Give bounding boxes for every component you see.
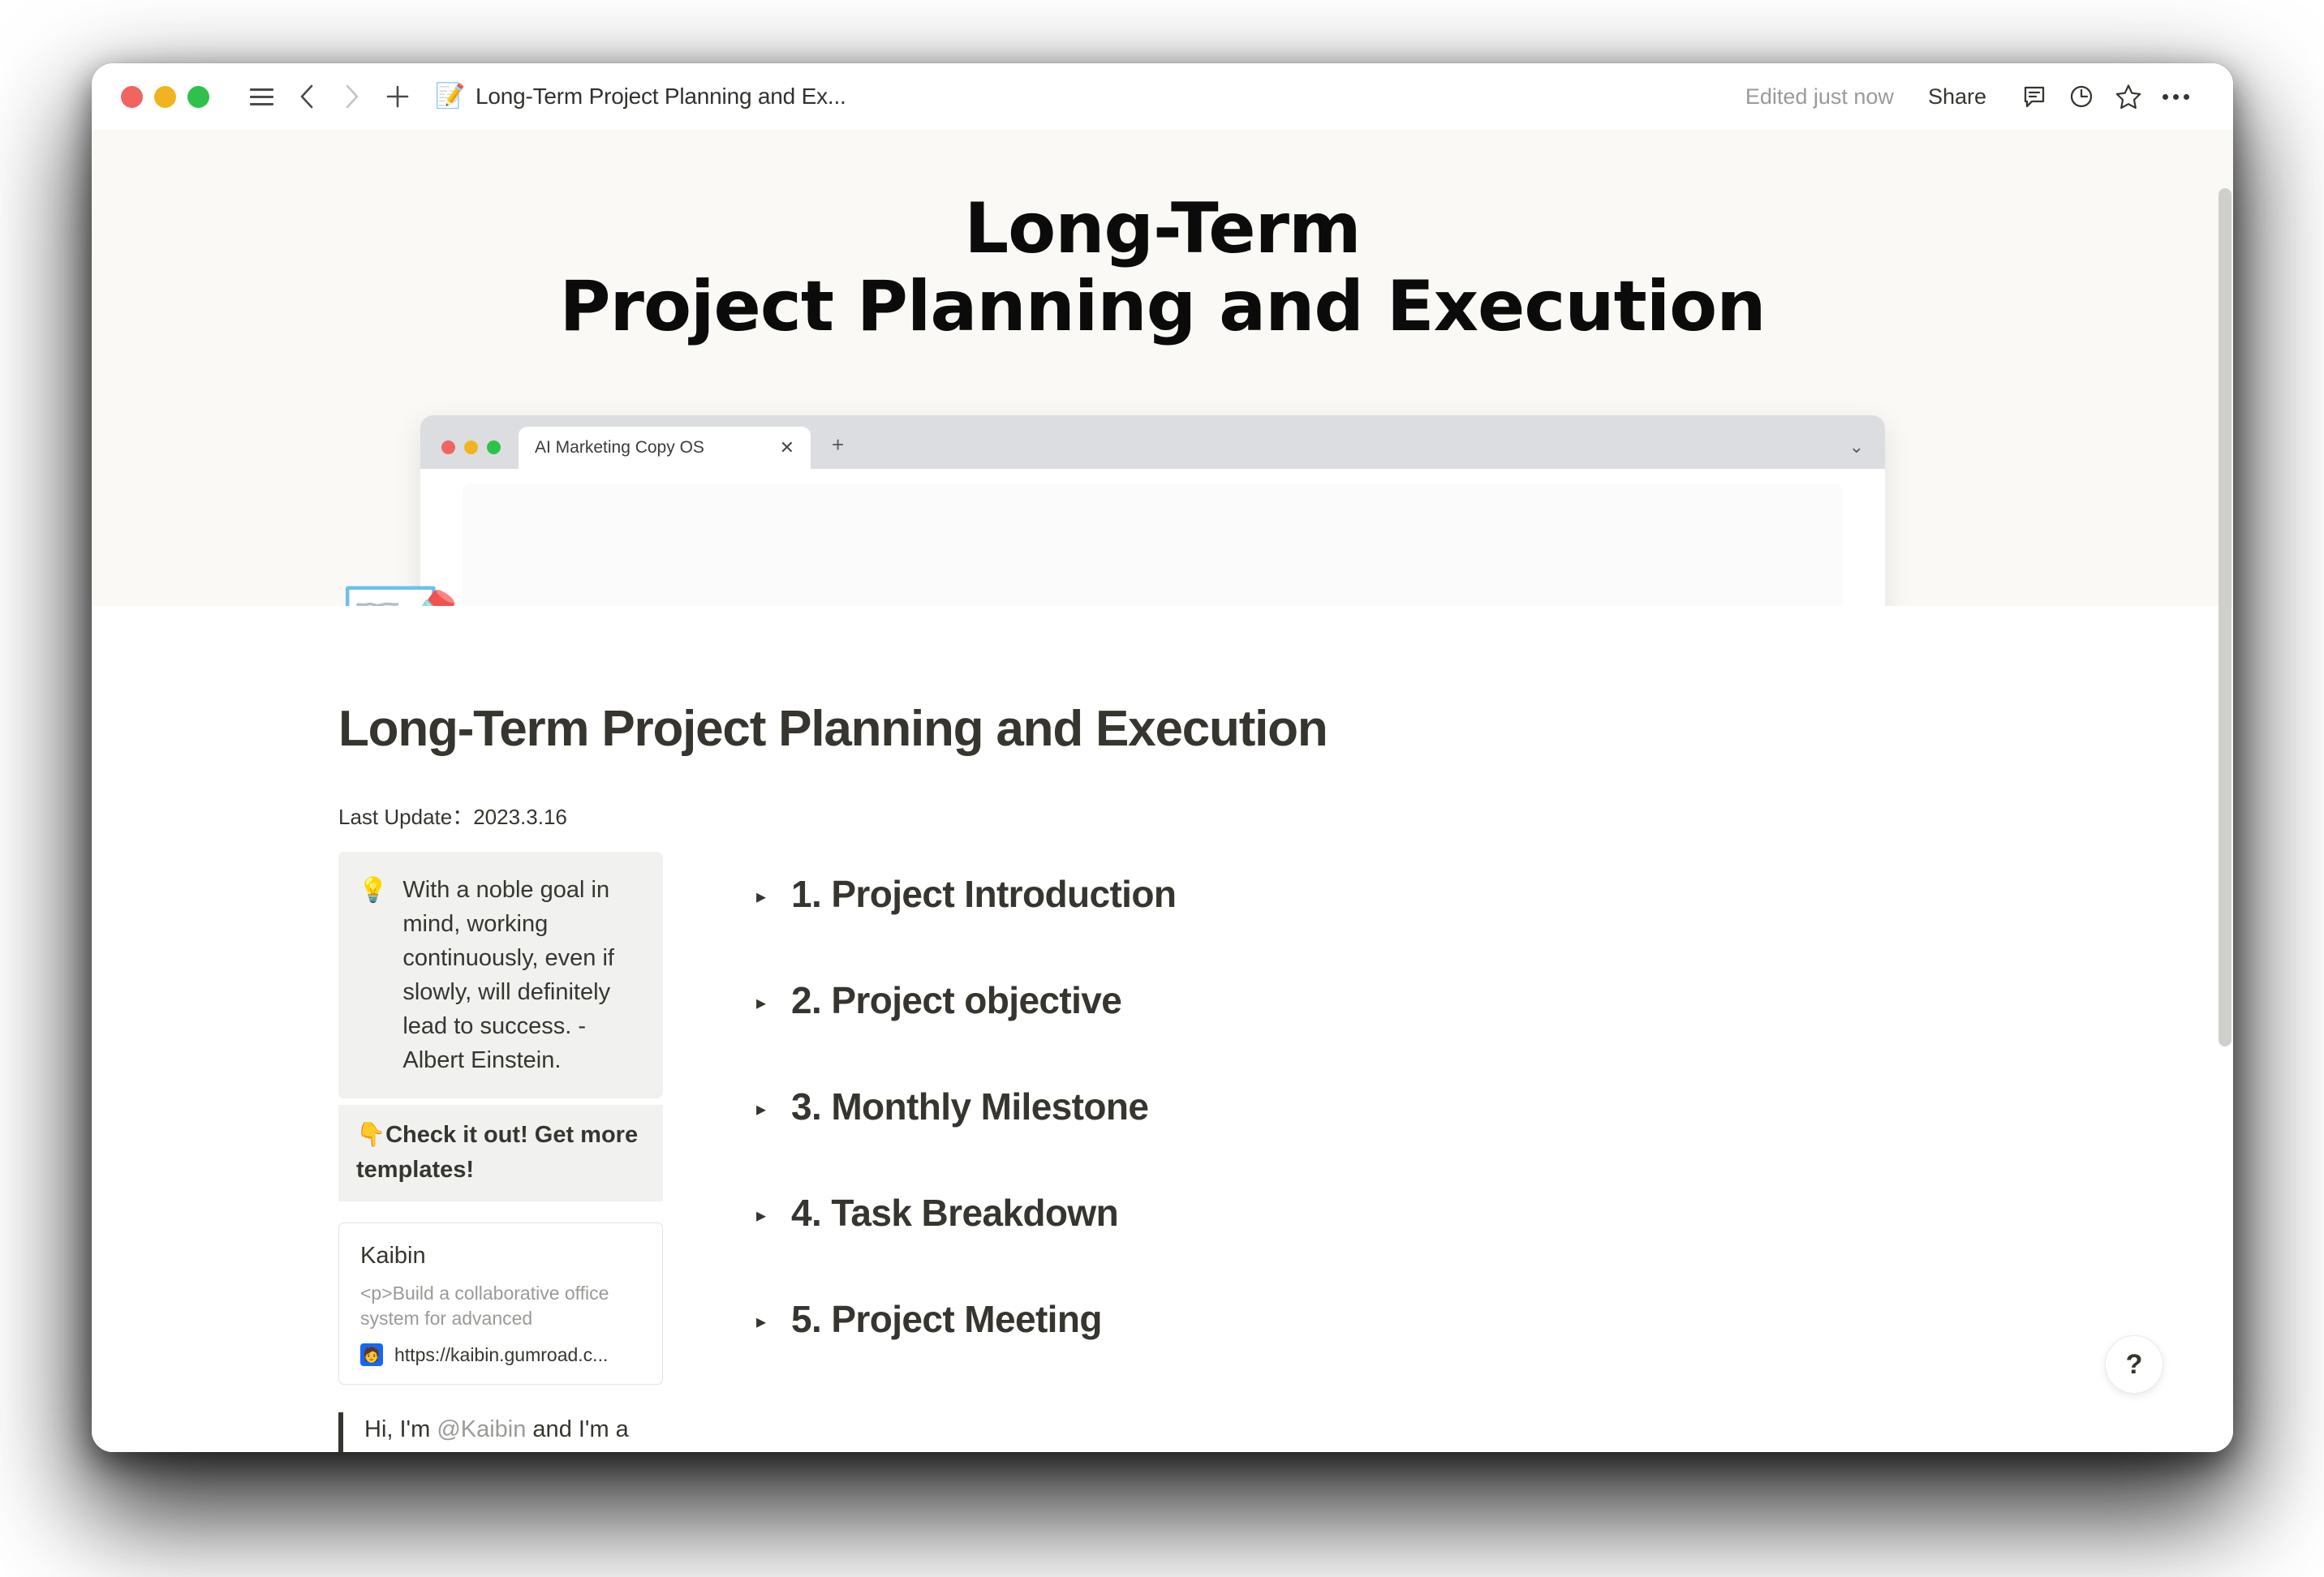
clock-history-icon[interactable] (2058, 73, 2105, 120)
templates-highlight-block[interactable]: 👇Check it out! Get more templates! (338, 1105, 663, 1201)
toggle-item-4[interactable]: ▸ 4. Task Breakdown (752, 1192, 2063, 1235)
toggle-label: 3. Monthly Milestone (791, 1085, 1148, 1128)
mockup-tab-label: AI Marketing Copy OS (535, 438, 704, 458)
toggle-label: 2. Project objective (791, 979, 1121, 1022)
toggle-arrow-icon[interactable]: ▸ (752, 1100, 770, 1119)
minimize-button[interactable] (154, 86, 176, 108)
last-update-value: 2023.3.16 (473, 805, 567, 829)
quote-prefix: Hi, I'm (364, 1416, 437, 1442)
help-button[interactable]: ? (2105, 1335, 2163, 1394)
toggle-item-5[interactable]: ▸ 5. Project Meeting (752, 1298, 2063, 1341)
left-column: 💡 With a noble goal in mind, working con… (338, 852, 663, 1452)
mockup-new-tab-icon: + (832, 432, 844, 458)
hamburger-icon[interactable] (239, 74, 284, 119)
pointing-down-icon: 👇 (356, 1122, 385, 1148)
toggle-label: 4. Task Breakdown (791, 1192, 1118, 1235)
toggle-arrow-icon[interactable]: ▸ (752, 994, 770, 1013)
mockup-tab: AI Marketing Copy OS ✕ (519, 427, 811, 469)
toggle-arrow-icon[interactable]: ▸ (752, 1206, 770, 1226)
highlight-text: Check it out! Get more templates! (356, 1122, 638, 1182)
cover-title: Long-Term Project Planning and Execution (92, 190, 2233, 346)
document-title: Long-Term Project Planning and Ex... (476, 84, 846, 110)
desktop-background: 📝 Long-Term Project Planning and Ex... E… (0, 0, 2324, 1577)
content-columns: 💡 With a noble goal in mind, working con… (338, 852, 2063, 1452)
page-title[interactable]: Long-Term Project Planning and Execution (338, 702, 2063, 757)
more-options-icon[interactable] (2152, 73, 2199, 120)
mockup-chevron-down-icon: ⌄ (1849, 436, 1864, 458)
bookmark-url: https://kaibin.gumroad.c... (394, 1344, 608, 1366)
page-cover-image[interactable]: Long-Term Project Planning and Execution… (92, 130, 2233, 606)
window-controls (121, 86, 209, 108)
user-mention[interactable]: @Kaibin (437, 1416, 526, 1442)
chevron-right-icon[interactable] (329, 74, 375, 119)
edited-status: Edited just now (1745, 84, 1894, 110)
page-scroll-area: Long-Term Project Planning and Execution… (92, 130, 2233, 1452)
toggle-arrow-icon[interactable]: ▸ (752, 1313, 770, 1332)
quote-callout[interactable]: 💡 With a noble goal in mind, working con… (338, 852, 663, 1098)
titlebar-nav-icons (239, 74, 420, 119)
toggle-item-3[interactable]: ▸ 3. Monthly Milestone (752, 1085, 2063, 1128)
toggle-item-2[interactable]: ▸ 2. Project objective (752, 979, 2063, 1022)
mockup-viewport (420, 483, 1885, 606)
toggle-label: 5. Project Meeting (791, 1298, 1102, 1341)
titlebar-actions: Edited just now Share (1745, 73, 2199, 120)
cover-title-line-1: Long-Term (92, 190, 2233, 268)
mockup-window-controls (441, 440, 501, 454)
page-scrollbar[interactable] (2217, 130, 2233, 1452)
author-blockquote: Hi, I'm @Kaibin and I'm a product design… (338, 1412, 663, 1452)
toggle-item-1[interactable]: ▸ 1. Project Introduction (752, 873, 2063, 916)
app-window: 📝 Long-Term Project Planning and Ex... E… (92, 63, 2233, 1452)
mockup-tab-close-icon: ✕ (780, 437, 794, 458)
browser-mockup: AI Marketing Copy OS ✕ + ⌄ (420, 415, 1885, 606)
document-breadcrumb[interactable]: 📝 Long-Term Project Planning and Ex... (437, 83, 846, 110)
callout-text: With a noble goal in mind, working conti… (402, 873, 642, 1077)
mockup-zoom-dot (487, 440, 501, 454)
memo-icon: 📝 (437, 83, 464, 110)
right-column: ▸ 1. Project Introduction ▸ 2. Project o… (663, 852, 2063, 1403)
comment-icon[interactable] (2011, 73, 2058, 120)
plus-icon[interactable] (375, 74, 420, 119)
mockup-close-dot (441, 440, 455, 454)
zoom-button[interactable] (187, 86, 209, 108)
share-button[interactable]: Share (1915, 76, 1999, 118)
bookmark-card[interactable]: Kaibin <p>Build a collaborative office s… (338, 1222, 663, 1385)
mockup-minimize-dot (464, 440, 478, 454)
bookmark-title: Kaibin (360, 1243, 641, 1270)
star-icon[interactable] (2105, 73, 2152, 120)
bookmark-description: <p>Build a collaborative office system f… (360, 1281, 641, 1332)
scrollbar-thumb[interactable] (2219, 188, 2231, 1046)
last-update-line: Last Update：2023.3.16 (338, 801, 2063, 831)
cover-title-line-2: Project Planning and Execution (92, 268, 2233, 346)
last-update-label: Last Update： (338, 805, 473, 829)
avatar-favicon-icon: 🧑 (360, 1343, 383, 1366)
close-button[interactable] (121, 86, 143, 108)
lightbulb-icon: 💡 (358, 873, 388, 1077)
toggle-label: 1. Project Introduction (791, 873, 1176, 916)
bookmark-link-row: 🧑 https://kaibin.gumroad.c... (360, 1343, 641, 1366)
mockup-tab-bar: AI Marketing Copy OS ✕ + ⌄ (420, 415, 1885, 469)
title-bar: 📝 Long-Term Project Planning and Ex... E… (92, 63, 2233, 130)
page-content: Long-Term Project Planning and Execution… (92, 606, 2233, 1452)
toggle-arrow-icon[interactable]: ▸ (752, 887, 770, 907)
chevron-left-icon[interactable] (284, 74, 329, 119)
